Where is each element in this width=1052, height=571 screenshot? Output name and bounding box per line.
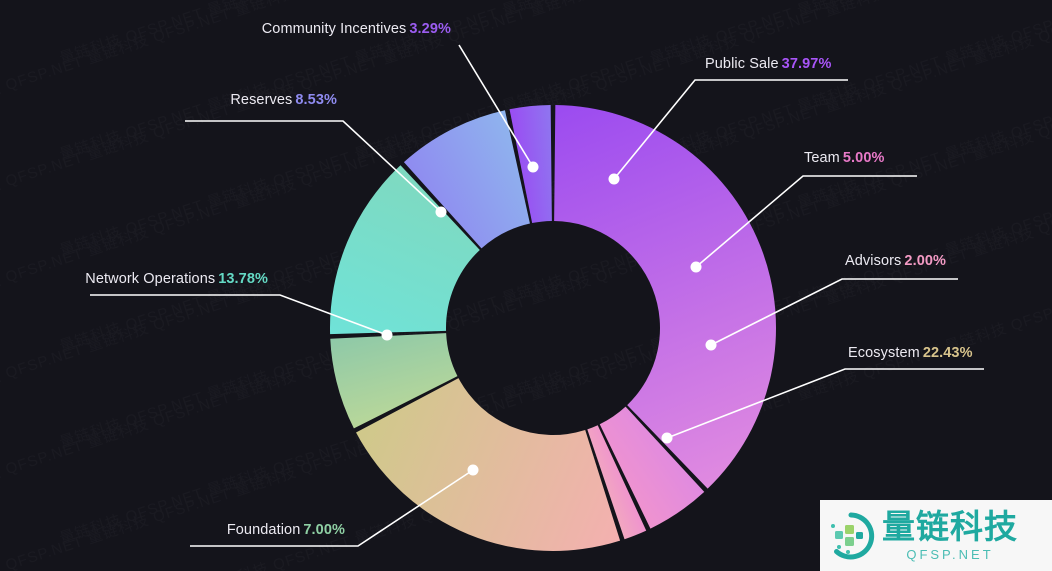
slice-label: Team5.00% xyxy=(804,150,884,166)
leader-dot xyxy=(691,262,702,273)
donut-slice[interactable] xyxy=(554,105,776,489)
leader-dot xyxy=(382,330,393,341)
leader-dot xyxy=(662,433,673,444)
slice-label-name: Community Incentives xyxy=(262,21,407,37)
slice-label: Foundation7.00% xyxy=(0,522,345,538)
slice-label: Advisors2.00% xyxy=(845,253,946,269)
leader-dot xyxy=(436,207,447,218)
slice-label: Reserves8.53% xyxy=(0,92,337,108)
slice-label: Network Operations13.78% xyxy=(0,271,268,287)
slice-label: Public Sale37.97% xyxy=(705,56,831,72)
leader-dot xyxy=(468,465,479,476)
slice-label-name: Public Sale xyxy=(705,56,779,72)
slice-label: Ecosystem22.43% xyxy=(848,345,973,361)
slice-label-percent: 22.43% xyxy=(923,345,973,361)
slice-label-percent: 3.29% xyxy=(409,21,451,37)
logo-watermark: 量链科技 QFSP.NET xyxy=(820,500,1052,571)
slice-label-name: Ecosystem xyxy=(848,345,920,361)
leader-dot xyxy=(609,174,620,185)
slice-label-name: Foundation xyxy=(227,522,301,538)
slice-label-percent: 37.97% xyxy=(782,56,832,72)
logo-en-text: QFSP.NET xyxy=(882,548,1018,561)
logo-mark-icon xyxy=(826,511,876,561)
leader-dot xyxy=(528,162,539,173)
slice-label-name: Advisors xyxy=(845,253,901,269)
leader-dot xyxy=(706,340,717,351)
slice-label-percent: 2.00% xyxy=(904,253,946,269)
slice-label-percent: 5.00% xyxy=(843,150,885,166)
chart-page: 量链科技 QFSP.NET 量链科技 QFSP.NET 量链科技 QFSP.NE… xyxy=(0,0,1052,571)
slice-label: Community Incentives3.29% xyxy=(0,21,451,37)
slice-label-percent: 13.78% xyxy=(218,271,268,287)
slice-label-percent: 7.00% xyxy=(303,522,345,538)
slice-label-name: Network Operations xyxy=(85,271,215,287)
logo-cn-text: 量链科技 xyxy=(882,510,1018,543)
slice-label-name: Reserves xyxy=(230,92,292,108)
slice-label-name: Team xyxy=(804,150,840,166)
slice-label-percent: 8.53% xyxy=(295,92,337,108)
logo-text: 量链科技 QFSP.NET xyxy=(882,510,1018,561)
